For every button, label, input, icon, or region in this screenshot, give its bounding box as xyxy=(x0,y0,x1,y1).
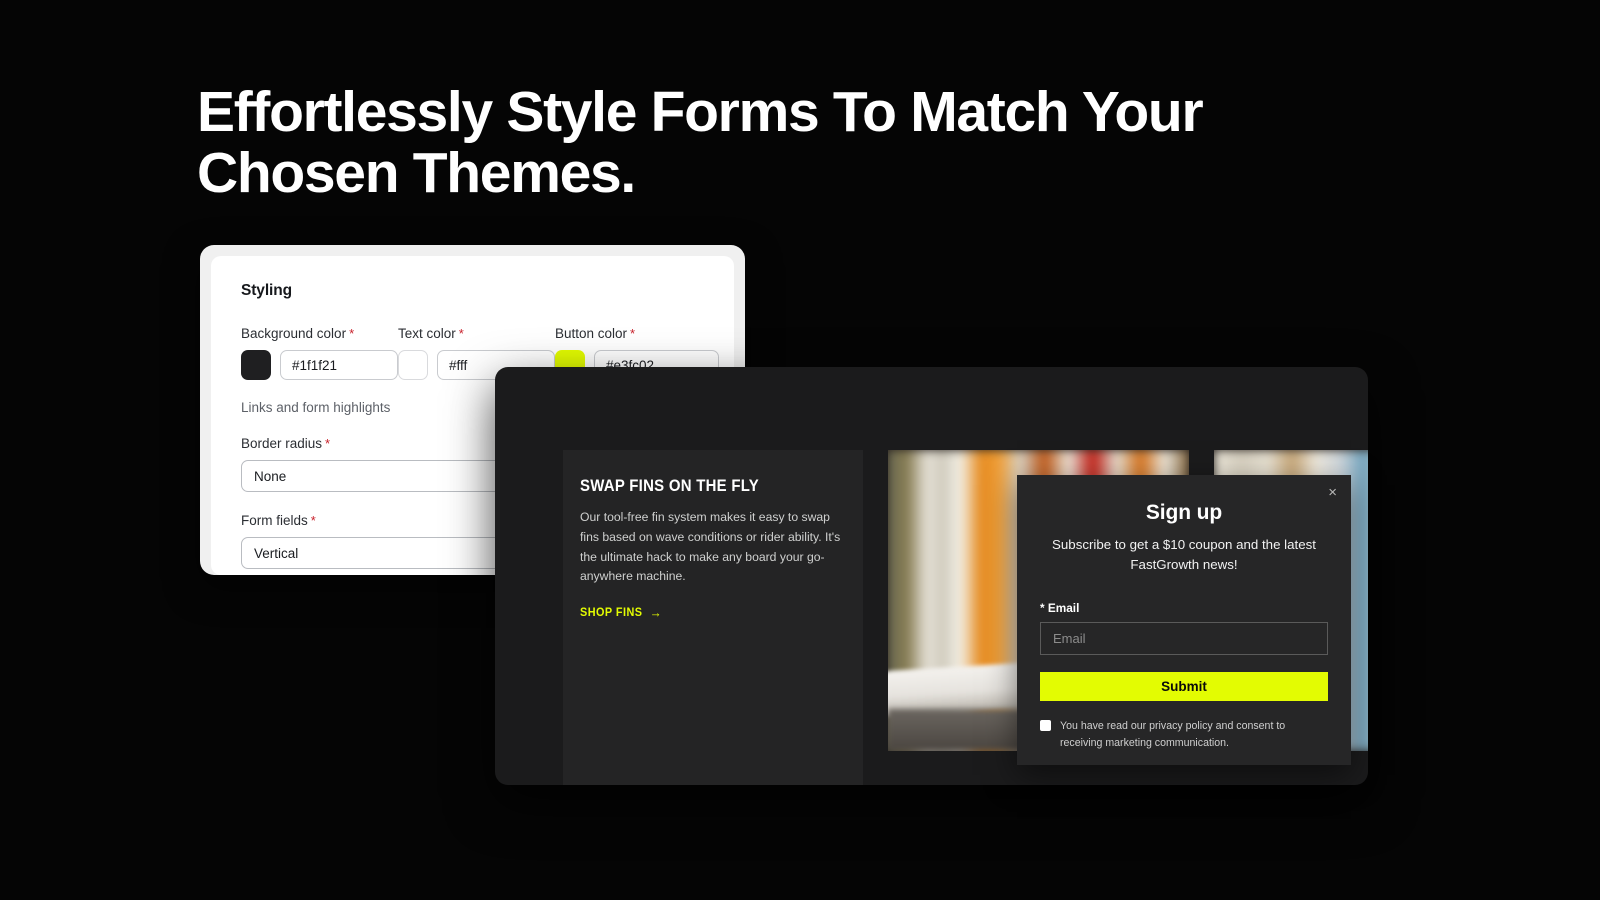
page-root: Effortlessly Style Forms To Match Your C… xyxy=(0,0,1600,900)
fin-promo-card: SWAP FINS ON THE FLY Our tool-free fin s… xyxy=(563,450,863,785)
required-asterisk: * xyxy=(325,436,330,451)
consent-row: You have read our privacy policy and con… xyxy=(1040,718,1328,751)
submit-button[interactable]: Submit xyxy=(1040,672,1328,701)
required-asterisk: * xyxy=(630,326,635,341)
signup-title: Sign up xyxy=(1040,501,1328,525)
signup-subtitle: Subscribe to get a $10 coupon and the la… xyxy=(1040,535,1328,575)
text-color-label: Text color* xyxy=(398,326,555,341)
email-input[interactable] xyxy=(1040,622,1328,655)
button-color-label: Button color* xyxy=(555,326,719,341)
styling-section-title: Styling xyxy=(241,282,704,300)
required-asterisk: * xyxy=(349,326,354,341)
shop-fins-label: SHOP FINS xyxy=(580,605,642,619)
page-title: Effortlessly Style Forms To Match Your C… xyxy=(197,82,1297,204)
required-asterisk: * xyxy=(311,513,316,528)
background-color-controls: #1f1f21 xyxy=(241,350,398,380)
background-color-input[interactable]: #1f1f21 xyxy=(280,350,398,380)
consent-checkbox[interactable] xyxy=(1040,720,1051,731)
text-color-swatch[interactable] xyxy=(398,350,428,380)
arrow-right-icon: → xyxy=(650,605,662,620)
required-asterisk: * xyxy=(459,326,464,341)
color-field-background: Background color* #1f1f21 xyxy=(241,326,398,380)
signup-modal: × Sign up Subscribe to get a $10 coupon … xyxy=(1017,475,1351,765)
consent-label: You have read our privacy policy and con… xyxy=(1060,718,1328,751)
fin-card-title: SWAP FINS ON THE FLY xyxy=(580,476,814,496)
fin-card-body: Our tool-free fin system makes it easy t… xyxy=(580,508,846,587)
background-color-label: Background color* xyxy=(241,326,398,341)
shop-fins-link[interactable]: SHOP FINS → xyxy=(580,605,662,620)
email-label: * Email xyxy=(1040,601,1328,615)
background-color-swatch[interactable] xyxy=(241,350,271,380)
close-icon[interactable]: × xyxy=(1328,485,1337,500)
